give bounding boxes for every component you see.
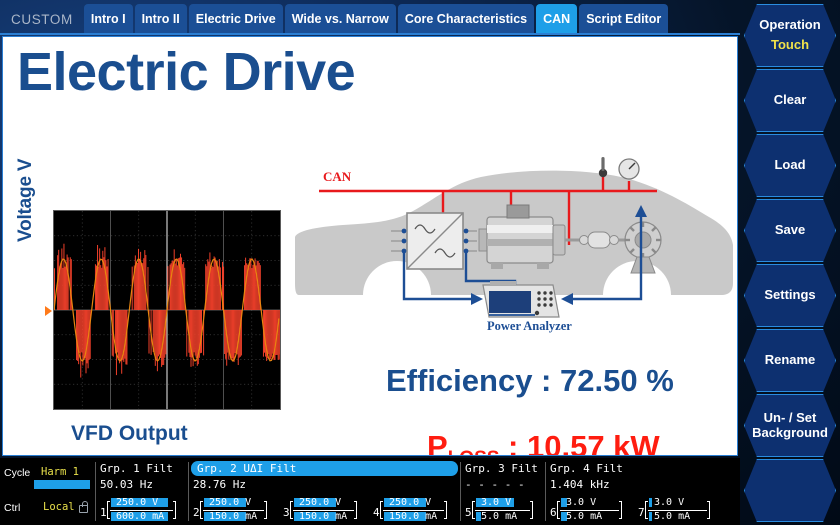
group-header-4[interactable]: Grp. 4 Filt (550, 462, 623, 475)
ploss-value: 10.57 kW (527, 429, 660, 456)
channel-1[interactable]: 1250.0 V600.0 mA (100, 494, 184, 525)
channel-current-value: 150.0 mA (299, 512, 347, 521)
page-title: Electric Drive (17, 45, 355, 99)
ctrl-value: Local (43, 501, 75, 513)
channel-current-value: 5.0 mA (566, 512, 602, 521)
status-separator-0 (95, 462, 96, 521)
channel-bracket-right (354, 501, 357, 519)
channel-number: 3 (283, 506, 290, 519)
status-separator-3 (545, 462, 546, 521)
channel-bracket-right (707, 501, 710, 519)
sidebar-button-rename[interactable]: Rename (744, 329, 836, 392)
channel-7[interactable]: 73.0 V5.0 mA (638, 494, 718, 525)
sidebar-button-empty[interactable] (744, 459, 836, 522)
scope-display[interactable] (53, 210, 281, 410)
group-header-3[interactable]: Grp. 3 Filt (465, 462, 538, 475)
channel-voltage-bar[interactable] (649, 498, 652, 507)
scope-widget (53, 210, 281, 410)
group-header-1[interactable]: Grp. 1 Filt (100, 462, 173, 475)
group-frequency-2: 28.76 Hz (193, 478, 246, 491)
channel-bracket-right (530, 501, 533, 519)
channel-bracket-right (619, 501, 622, 519)
sidebar-button-sublabel: Touch (771, 38, 809, 53)
channel-number: 2 (193, 506, 200, 519)
efficiency-value: 72.50 % (560, 363, 674, 398)
sidebar-button-label: Load (774, 158, 805, 173)
electric-drive-diagram: CAN (285, 133, 737, 333)
sidebar-button-label: Un- / Set Background (752, 411, 828, 441)
channel-current-bar[interactable] (649, 512, 652, 521)
channel-current-value: 5.0 mA (481, 512, 517, 521)
tab-bar: CUSTOM Intro IIntro IIElectric DriveWide… (0, 0, 740, 34)
group-frequency-1: 50.03 Hz (100, 478, 153, 491)
channel-current-value: 150.0 mA (209, 512, 257, 521)
channel-number: 5 (465, 506, 472, 519)
sidebar-button-label: Settings (764, 288, 815, 303)
tab-script-editor[interactable]: Script Editor (579, 4, 668, 34)
gauge-icon (619, 159, 639, 179)
main-content-panel: Electric Drive CAN (2, 36, 738, 456)
cycle-label: Cycle (4, 467, 30, 479)
channel-bracket-right (444, 501, 447, 519)
cycle-progress-bar[interactable] (34, 480, 90, 489)
channel-voltage-value: 250.0 V (389, 498, 431, 507)
tab-wide-vs-narrow[interactable]: Wide vs. Narrow (285, 4, 396, 34)
custom-label: CUSTOM (0, 12, 84, 34)
tab-bar-underline (0, 33, 740, 35)
status-bar: CycleHarm 1CtrlLocalGrp. 1 Filt50.03 HzG… (0, 458, 740, 525)
application-window: CUSTOM Intro IIntro IIElectric DriveWide… (0, 0, 840, 525)
channel-voltage-value: 250.0 V (116, 498, 158, 507)
lock-icon (79, 505, 88, 513)
sidebar-button-save[interactable]: Save (744, 199, 836, 262)
scope-canvas (54, 211, 280, 409)
scope-caption: VFD Output (71, 422, 188, 446)
power-analyzer-label: Power Analyzer (487, 319, 572, 333)
sidebar-button-label: Save (775, 223, 805, 238)
group-frequency-4: 1.404 kHz (550, 478, 610, 491)
channel-number: 6 (550, 506, 557, 519)
channel-3[interactable]: 3250.0 V150.0 mA (283, 494, 365, 525)
group-frequency-3: - - - - - (465, 478, 525, 491)
trigger-marker-icon (45, 306, 52, 316)
channel-voltage-value: 3.0 V (566, 498, 596, 507)
can-bus-label: CAN (323, 169, 352, 184)
temperature-sensor-icon (599, 157, 607, 177)
ctrl-label: Ctrl (4, 502, 20, 514)
sidebar-button-settings[interactable]: Settings (744, 264, 836, 327)
channel-number: 7 (638, 506, 645, 519)
cycle-value: Harm 1 (41, 466, 79, 478)
channel-number: 1 (100, 506, 107, 519)
channel-2[interactable]: 2250.0 V150.0 mA (193, 494, 275, 525)
channel-6[interactable]: 63.0 V5.0 mA (550, 494, 630, 525)
ploss-prefix: P (427, 429, 448, 456)
channel-5[interactable]: 53.0 V5.0 mA (465, 494, 541, 525)
channel-4[interactable]: 4250.0 V150.0 mA (373, 494, 455, 525)
channel-bracket-right (264, 501, 267, 519)
right-sidebar: OperationTouchClearLoadSaveSettingsRenam… (740, 0, 840, 525)
channel-voltage-value: 3.0 V (481, 498, 511, 507)
channel-voltage-value: 250.0 V (299, 498, 341, 507)
tab-intro-i[interactable]: Intro I (84, 4, 133, 34)
status-separator-2 (460, 462, 461, 521)
channel-bracket-right (173, 501, 176, 519)
tab-electric-drive[interactable]: Electric Drive (189, 4, 283, 34)
scope-y-axis-label: Voltage V (15, 159, 37, 242)
tab-intro-ii[interactable]: Intro II (135, 4, 187, 34)
tab-can[interactable]: CAN (536, 4, 577, 34)
sidebar-button-label: Rename (765, 353, 816, 368)
tab-core-characteristics[interactable]: Core Characteristics (398, 4, 534, 34)
group-header-2[interactable]: Grp. 2 UΔI Filt (191, 461, 458, 476)
channel-current-value: 600.0 mA (116, 512, 164, 521)
channel-current-value: 150.0 mA (389, 512, 437, 521)
ploss-separator: : (499, 429, 527, 456)
channel-current-value: 5.0 mA (654, 512, 690, 521)
power-loss-readout: PLOSS : 10.57 kW (427, 429, 660, 456)
channel-voltage-value: 3.0 V (654, 498, 684, 507)
sidebar-button-clear[interactable]: Clear (744, 69, 836, 132)
sidebar-button-label: Operation (759, 18, 820, 33)
sidebar-button-label: Clear (774, 93, 807, 108)
efficiency-readout: Efficiency : 72.50 % (386, 363, 674, 399)
channel-voltage-value: 250.0 V (209, 498, 251, 507)
sidebar-button-operation[interactable]: OperationTouch (744, 4, 836, 67)
channel-number: 4 (373, 506, 380, 519)
ploss-subscript: LOSS (448, 448, 500, 456)
status-separator-1 (188, 462, 189, 521)
sidebar-button-un-set-background[interactable]: Un- / Set Background (744, 394, 836, 457)
efficiency-label: Efficiency : (386, 363, 560, 398)
power-analyzer-device (483, 281, 559, 317)
inverter-block (407, 213, 463, 269)
sidebar-button-load[interactable]: Load (744, 134, 836, 197)
